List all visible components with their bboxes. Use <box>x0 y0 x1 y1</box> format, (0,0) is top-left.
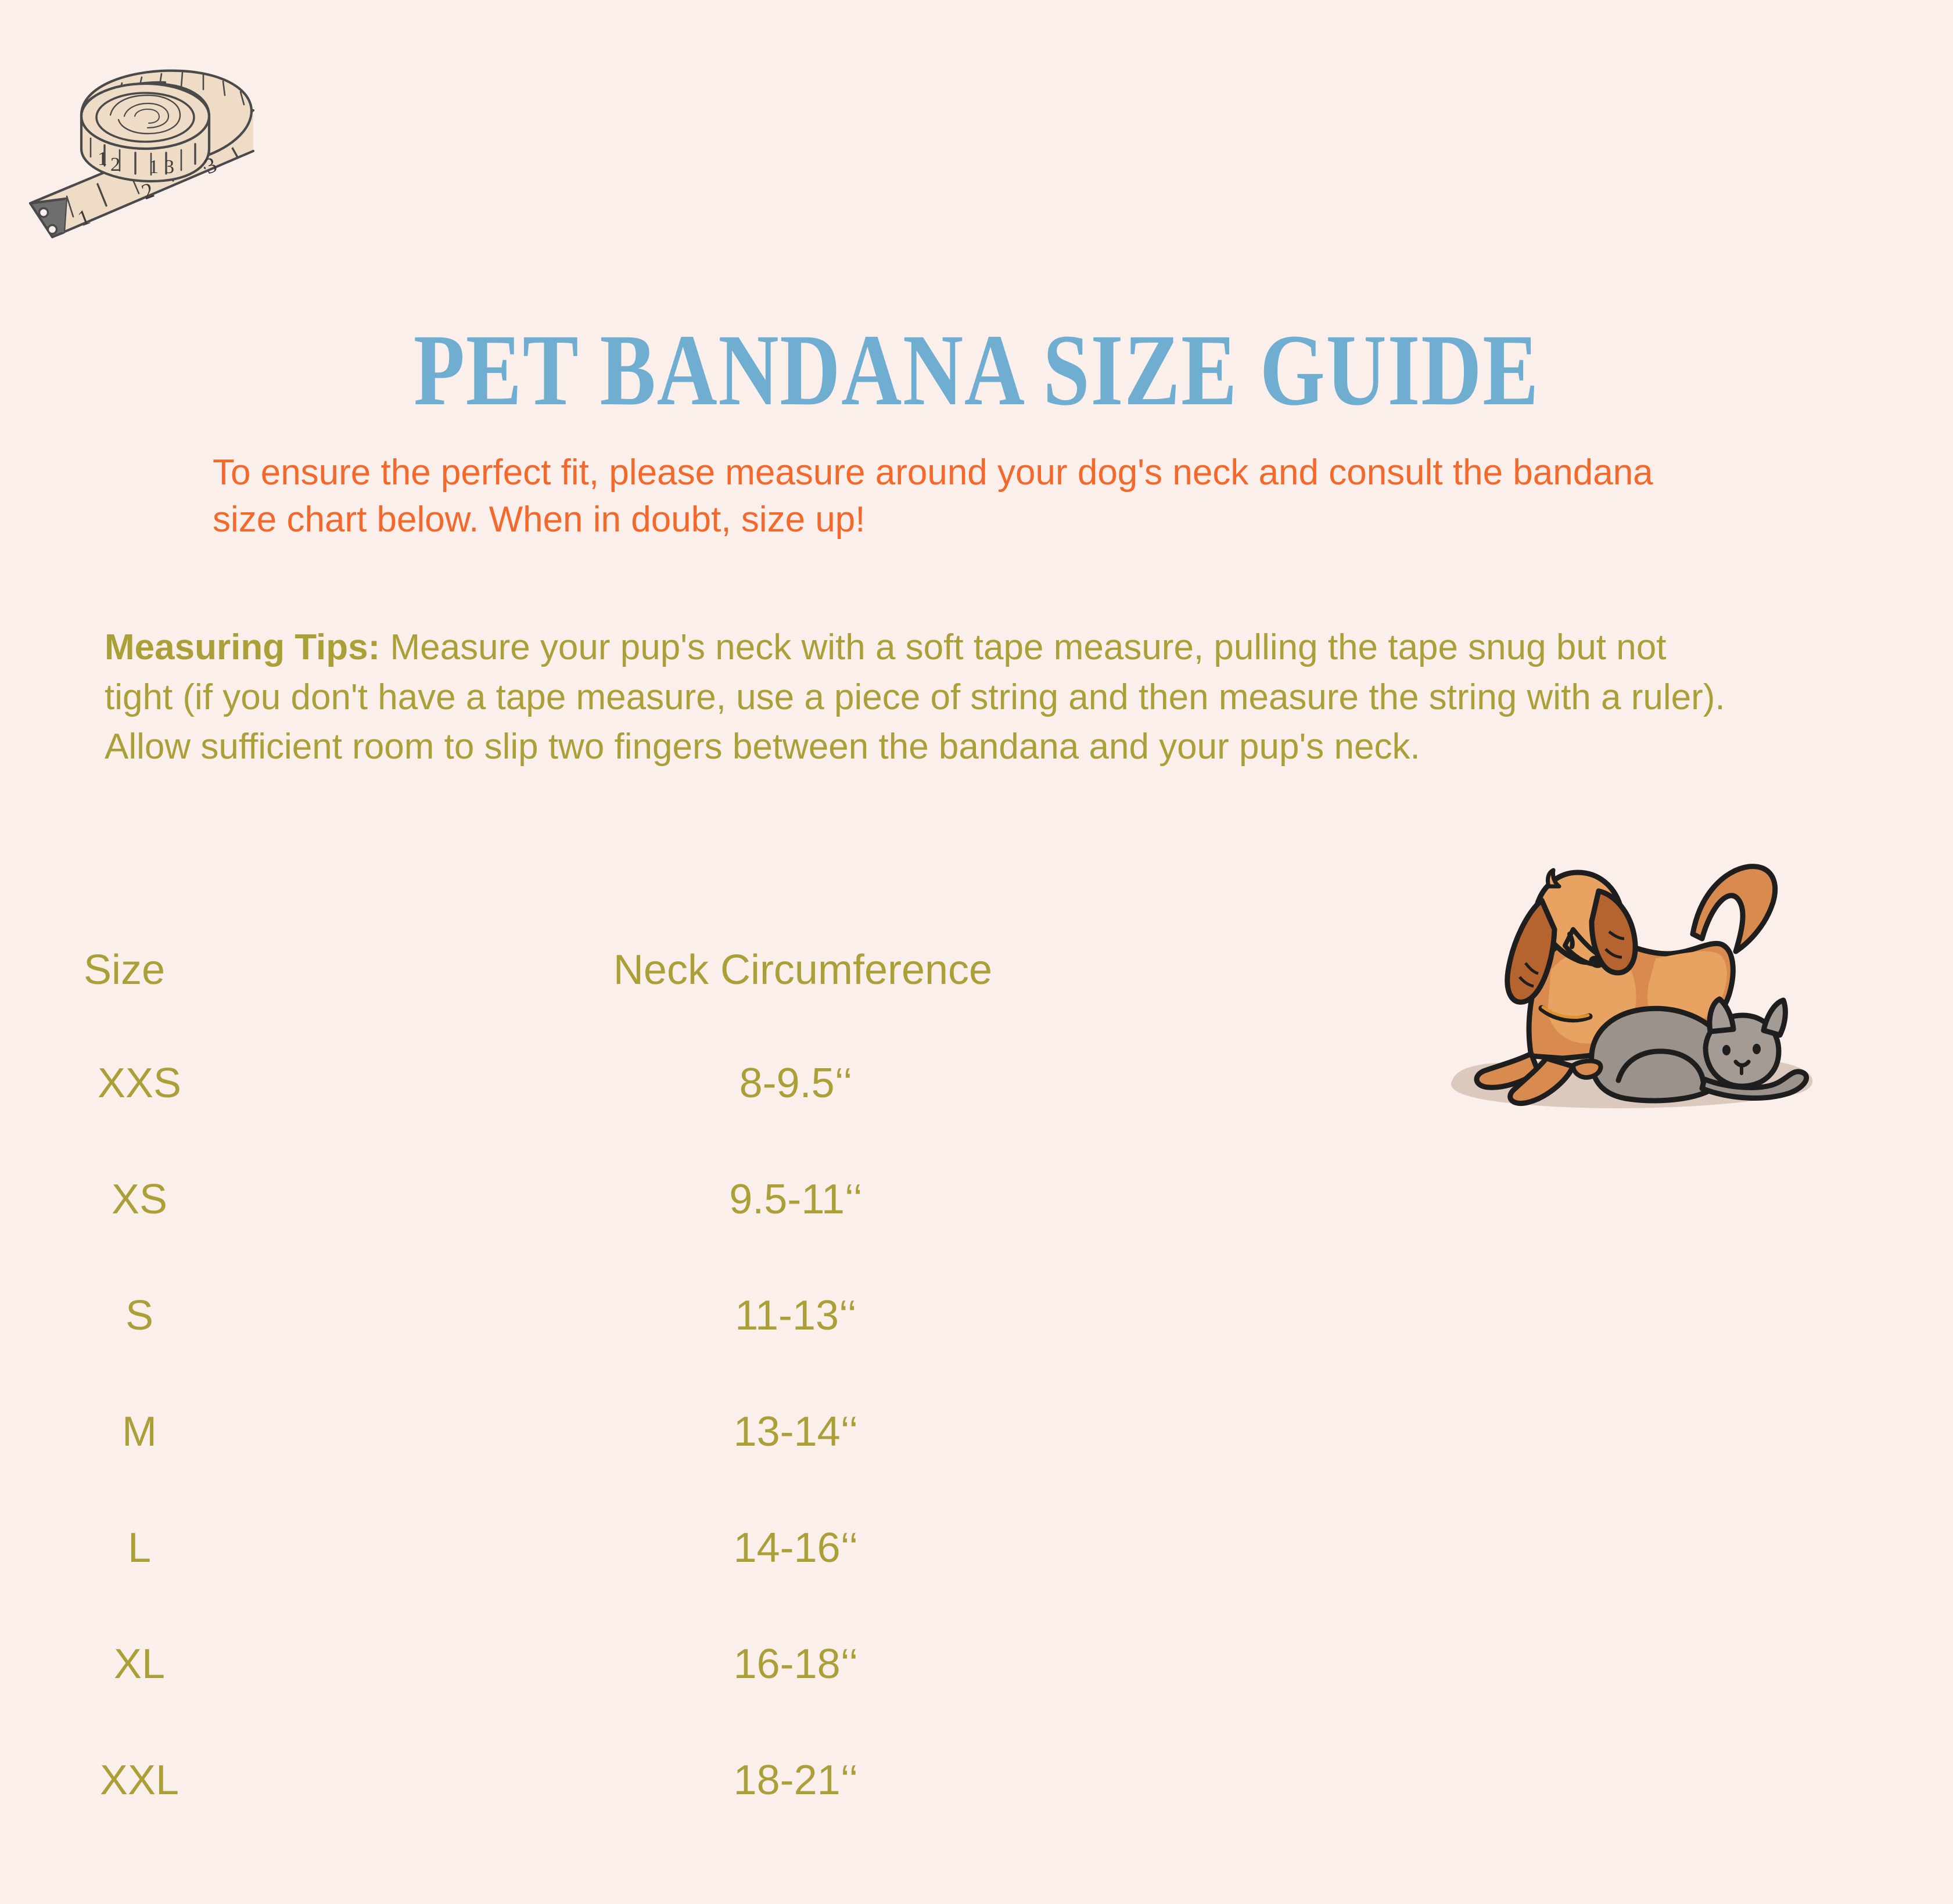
table-row: M 13-14‘‘ <box>70 1374 1383 1490</box>
cell-neck: 11-13‘‘ <box>209 1292 1383 1339</box>
cell-size: L <box>70 1524 209 1572</box>
measuring-tips-label: Measuring Tips: <box>105 627 380 667</box>
table-row: XS 9.5-11‘‘ <box>70 1141 1383 1258</box>
table-row: XL 16-18‘‘ <box>70 1606 1383 1722</box>
tape-roll-number-3: 1 <box>149 156 159 178</box>
tape-roll-number-4: 3 <box>164 156 174 178</box>
cell-neck: 8-9.5‘‘ <box>209 1059 1383 1107</box>
cell-size: XL <box>70 1640 209 1688</box>
table-row: XXL 18-21‘‘ <box>70 1722 1383 1838</box>
tape-roll-number-1: 1 <box>98 148 107 170</box>
table-header-row: Size Neck Circumference <box>70 915 1383 1025</box>
page-title: PET BANDANA SIZE GUIDE <box>176 319 1778 422</box>
cell-neck: 18-21‘‘ <box>209 1756 1383 1804</box>
cell-neck: 14-16‘‘ <box>209 1524 1383 1572</box>
cell-size: S <box>70 1292 209 1339</box>
cell-neck: 13-14‘‘ <box>209 1408 1383 1456</box>
dog-and-cat-illustration <box>1417 831 1836 1115</box>
table-row: S 11-13‘‘ <box>70 1258 1383 1374</box>
tape-measure-illustration: 1 2 1 3 1 2 3 <box>16 41 254 250</box>
cell-neck: 9.5-11‘‘ <box>209 1176 1383 1223</box>
cell-size: M <box>70 1408 209 1456</box>
cell-size: XXL <box>70 1756 209 1804</box>
table-row: XXS 8-9.5‘‘ <box>70 1025 1383 1141</box>
tape-roll-number-2: 2 <box>110 154 120 175</box>
size-chart-table: Size Neck Circumference XXS 8-9.5‘‘ XS 9… <box>70 915 1383 1838</box>
cell-size: XS <box>70 1176 209 1223</box>
cell-neck: 16-18‘‘ <box>209 1640 1383 1688</box>
measuring-tips-paragraph: Measuring Tips: Measure your pup's neck … <box>105 623 1731 772</box>
column-header-size: Size <box>70 946 223 994</box>
table-row: L 14-16‘‘ <box>70 1490 1383 1606</box>
cell-size: XXS <box>70 1059 209 1107</box>
size-guide-page: 1 2 1 3 1 2 3 PET BANDANA SIZE GUIDE To … <box>0 0 1953 1904</box>
column-header-neck-circumference: Neck Circumference <box>223 946 1383 994</box>
intro-subtitle: To ensure the perfect fit, please measur… <box>213 450 1700 543</box>
